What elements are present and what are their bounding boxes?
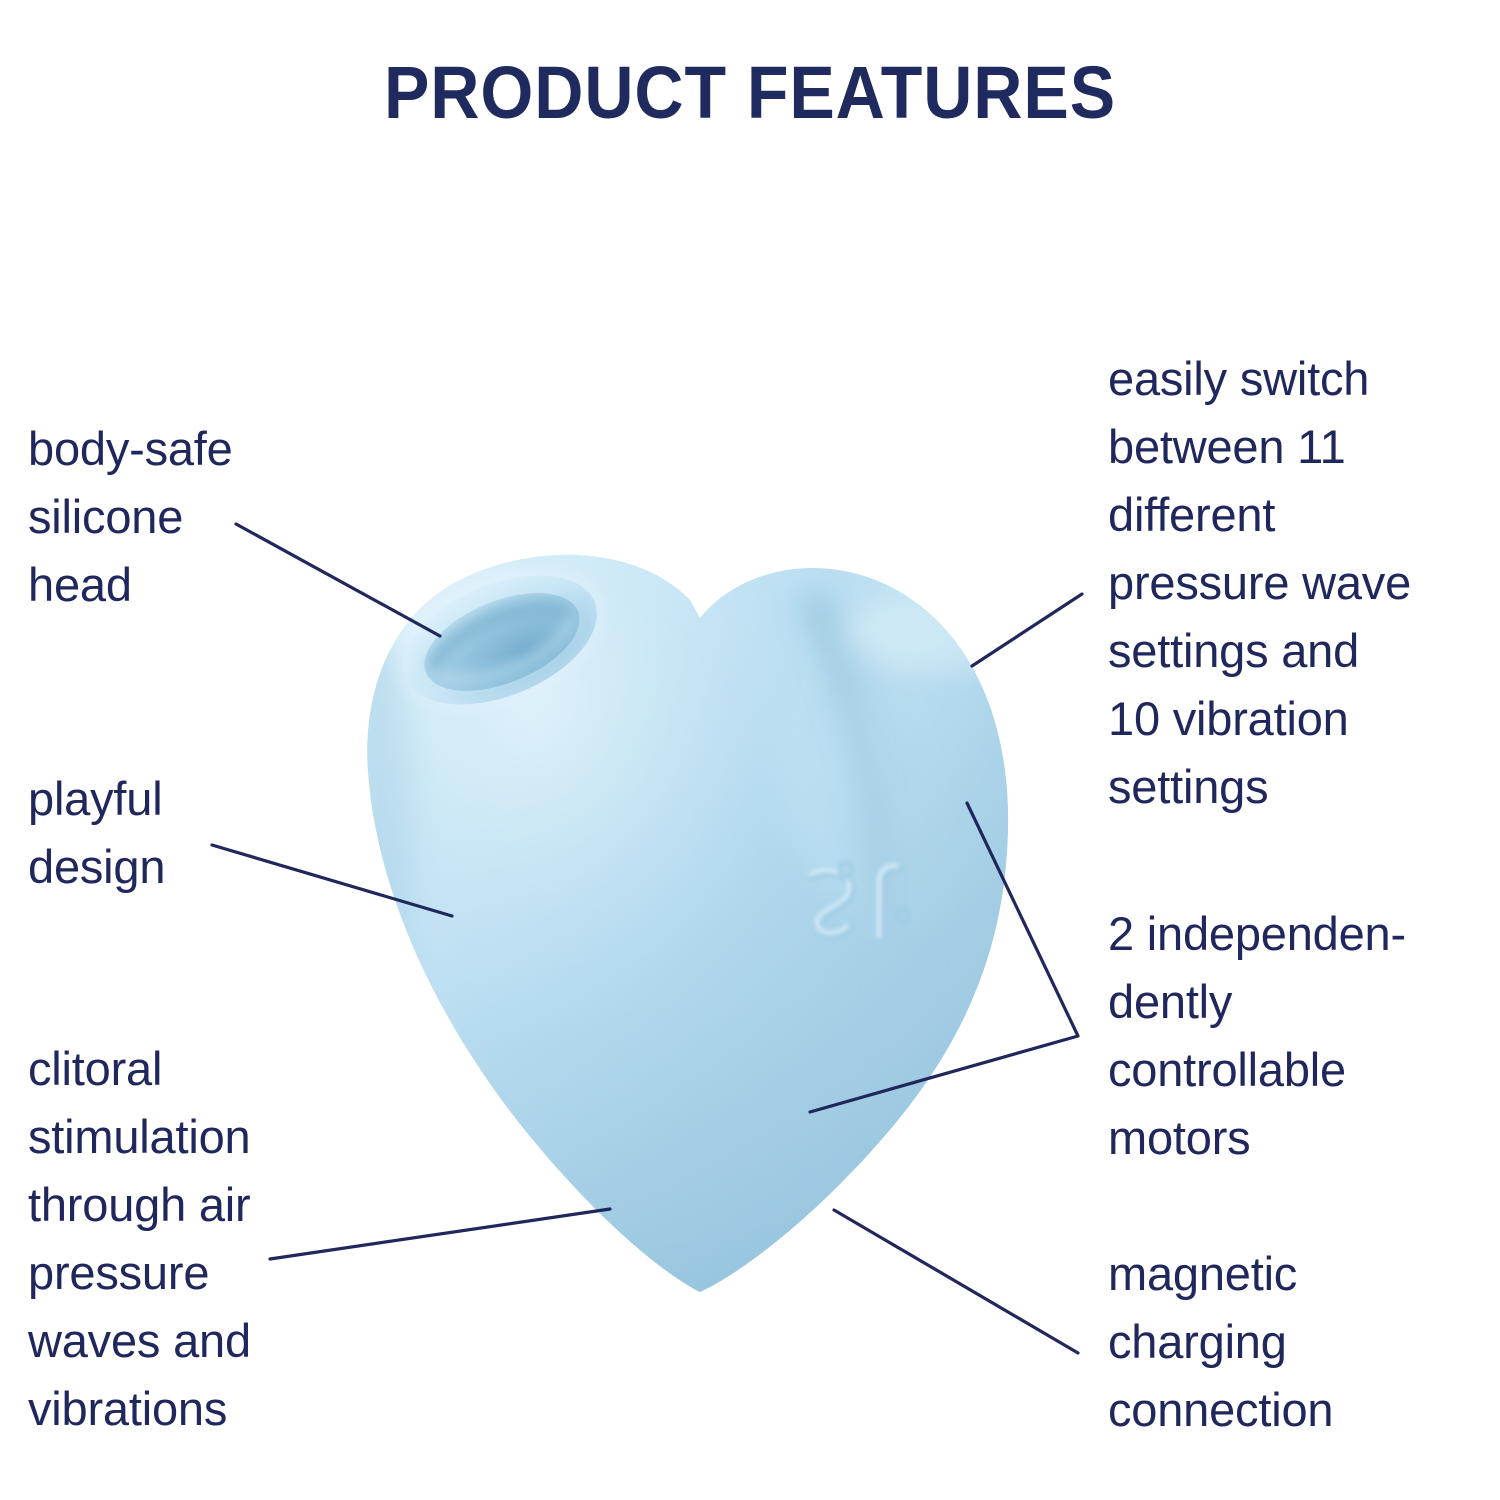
callout-playful-design: playful design [28,765,358,901]
callout-clitoral-stimulation: clitoral stimulation through air pressur… [28,1035,358,1443]
callout-independently-controllable-motors: 2 independen- dently controllable motors [1108,900,1488,1172]
callout-pressure-wave-settings: easily switch between 11 different press… [1108,345,1488,821]
product-body [292,530,1040,1300]
callout-magnetic-charging-connection: magnetic charging connection [1108,1240,1488,1444]
callout-body-safe-silicone-head: body-safe silicone head [28,415,358,619]
product-features-infographic: PRODUCT FEATURES [0,0,1500,1500]
